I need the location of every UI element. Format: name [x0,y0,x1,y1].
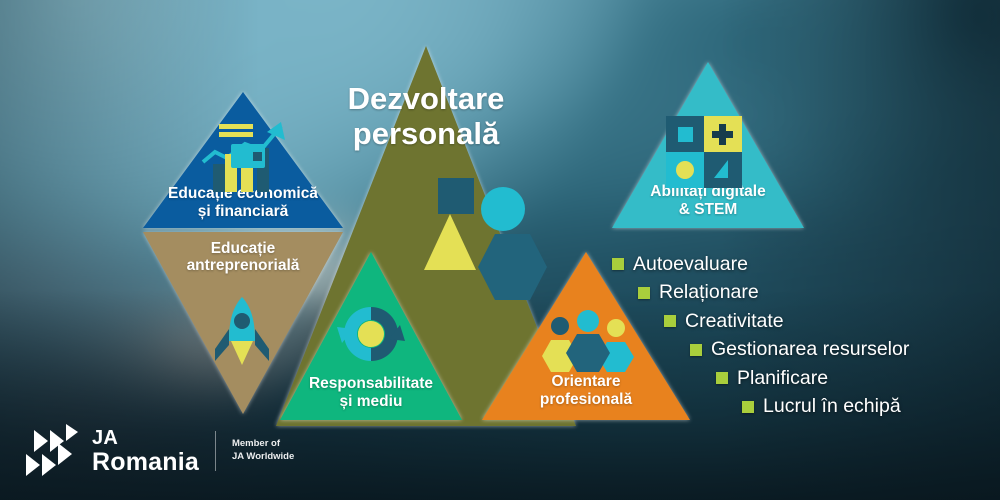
logo-wordmark: JA Romania [92,428,199,475]
bullet-label: Planificare [737,367,828,390]
bullet-item: Gestionarea resurselor [612,336,992,365]
bullet-square-icon [638,287,650,299]
logo-line-ja: JA [92,428,199,448]
bullet-item: Relaționare [612,279,992,308]
bullet-item: Lucrul în echipă [612,393,992,422]
triangle-abilitati-digitale[interactable]: Abilități digitale & STEM [612,62,804,228]
triangle-educatie-economica[interactable]: Educație economică și financiară [143,92,343,228]
bullet-label: Autoevaluare [633,253,748,276]
logo-line-romania: Romania [92,450,199,475]
bullet-item: Planificare [612,364,992,393]
competency-bullet-list: AutoevaluareRelaționareCreativitateGesti… [612,250,992,421]
bullet-item: Creativitate [612,307,992,336]
bullet-item: Autoevaluare [612,250,992,279]
logo-member-line1: Member of [232,438,294,451]
bullet-square-icon [612,258,624,270]
bullet-label: Lucrul în echipă [763,395,901,418]
triangle-responsabilitate-mediu[interactable]: Responsabilitate și mediu [280,252,462,420]
triangle-shape-econ [143,92,343,228]
bullet-square-icon [742,401,754,413]
bullet-label: Gestionarea resurselor [711,338,909,361]
bullet-label: Relaționare [659,281,759,304]
logo-member-tagline: Member of JA Worldwide [232,438,294,464]
ja-romania-logo[interactable]: JA Romania Member of JA Worldwide [24,420,324,482]
triangle-shape-digital [612,62,804,228]
bullet-square-icon [716,372,728,384]
bullet-square-icon [664,315,676,327]
ja-triangle-fractal-mark-icon [24,424,80,478]
logo-divider [215,431,216,471]
bullet-label: Creativitate [685,310,784,333]
bullet-square-icon [690,344,702,356]
infographic-canvas: Dezvoltare personală Educație economică … [0,0,1000,500]
triangle-shape-resp [280,252,462,420]
logo-member-line2: JA Worldwide [232,451,294,464]
